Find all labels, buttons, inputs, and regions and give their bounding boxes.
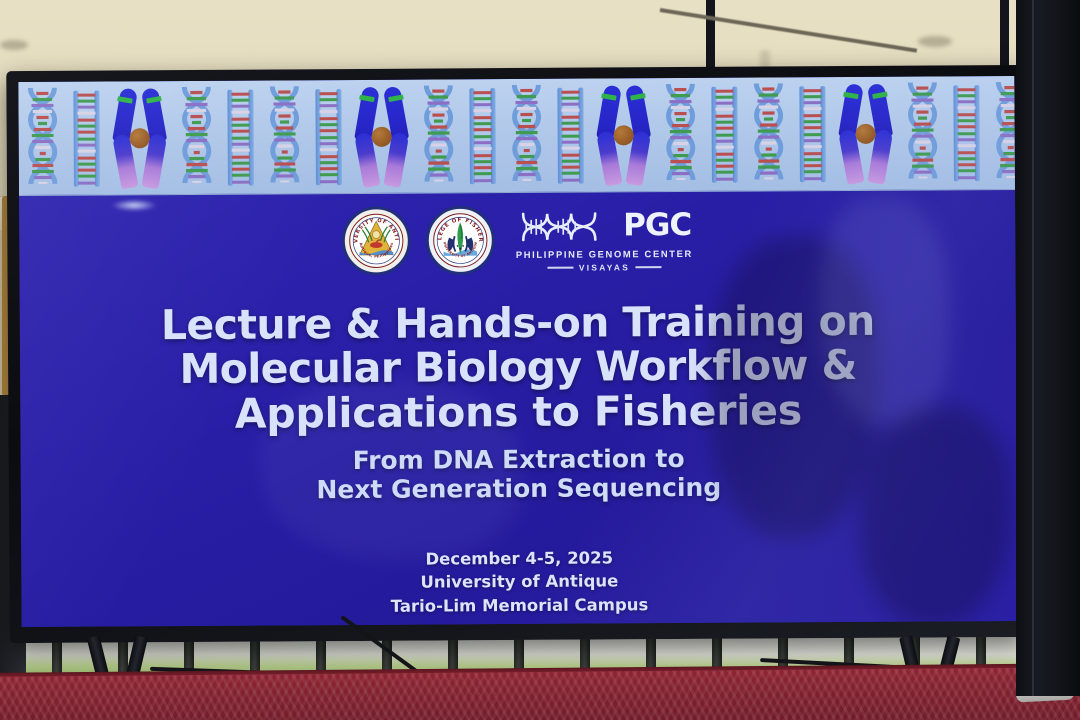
logo-row: UNIVERSITY OF ANTIQUE Antique, Philippin…	[19, 202, 1015, 278]
title-line-2: Molecular Biology Workflow &	[62, 342, 974, 392]
banner-motif-group	[18, 87, 261, 189]
dna-helix-motif	[905, 82, 940, 178]
centromere	[372, 126, 392, 146]
dna-chromosome-banner	[18, 76, 1015, 196]
right-post-seam	[1032, 0, 1034, 696]
pgc-rule-right	[635, 266, 661, 268]
slide-subtitle: From DNA Extraction to Next Generation S…	[21, 442, 1017, 507]
dna-ladder-motif	[315, 89, 342, 185]
dna-helix-motif	[751, 83, 786, 179]
dna-helix-motif	[25, 88, 60, 184]
banner-motif-group	[986, 81, 1015, 183]
dna-ladder-motif	[711, 86, 738, 182]
dna-ladder-motif	[557, 87, 584, 183]
pgc-rule-left	[548, 267, 574, 269]
dna-ladder-motif	[469, 88, 496, 184]
tv-bezel: UNIVERSITY OF ANTIQUE Antique, Philippin…	[6, 65, 1027, 643]
centromere	[856, 123, 876, 143]
subtitle-line-2: Next Generation Sequencing	[21, 471, 1017, 507]
wall-mark-left	[0, 40, 28, 50]
presentation-slide: UNIVERSITY OF ANTIQUE Antique, Philippin…	[18, 76, 1017, 627]
dna-ladder-motif	[73, 90, 100, 186]
dna-helix-motif	[421, 85, 456, 181]
university-of-antique-seal: UNIVERSITY OF ANTIQUE Antique, Philippin…	[342, 206, 412, 276]
dna-helix-motif	[267, 86, 302, 182]
title-line-3: Applications to Fisheries	[62, 387, 974, 437]
centromere	[614, 125, 634, 145]
dna-helix-motif	[179, 87, 214, 183]
right-structural-post	[1016, 0, 1080, 696]
x-chromosome-motif	[113, 88, 166, 188]
banner-motif-group	[502, 84, 745, 186]
dna-ladder-motif	[227, 89, 254, 185]
dna-ladder-motif	[799, 86, 826, 182]
photo-scene: UNIVERSITY OF ANTIQUE Antique, Philippin…	[0, 0, 1080, 720]
pgc-subtitle: PHILIPPINE GENOME CENTER	[516, 248, 693, 260]
event-venue: Tario-Lim Memorial Campus	[21, 591, 1017, 621]
pgc-wordmark: PGC	[623, 211, 691, 241]
x-chromosome-motif	[839, 83, 892, 183]
dna-ladder-motif	[953, 85, 980, 181]
event-details: December 4-5, 2025 University of Antique…	[21, 544, 1017, 620]
x-chromosome-motif	[355, 86, 408, 186]
tablecloth	[0, 667, 1080, 720]
slide-title: Lecture & Hands-on Training on Molecular…	[20, 298, 1017, 437]
television: UNIVERSITY OF ANTIQUE Antique, Philippin…	[6, 65, 1027, 643]
dna-helix-motif	[993, 82, 1015, 178]
dna-helix-icon	[517, 206, 621, 247]
pgc-visayas-logo: PGC PHILIPPINE GENOME CENTER VISAYAS	[516, 206, 694, 273]
wall-mark-right	[918, 36, 952, 47]
centromere	[130, 128, 150, 148]
dna-helix-motif	[509, 85, 544, 181]
tv-screen[interactable]: UNIVERSITY OF ANTIQUE Antique, Philippin…	[18, 76, 1017, 627]
banner-motif-group	[744, 82, 987, 184]
pgc-region-label: VISAYAS	[579, 262, 630, 272]
x-chromosome-motif	[597, 85, 650, 185]
banner-motif-group	[260, 85, 503, 187]
dna-helix-motif	[663, 84, 698, 180]
pgc-region: VISAYAS	[548, 262, 661, 273]
college-of-fisheries-seal: COLLEGE OF FISHERIES UNIVERSITY OF ANTIQ…	[426, 205, 496, 275]
title-block: Lecture & Hands-on Training on Molecular…	[20, 298, 1017, 507]
